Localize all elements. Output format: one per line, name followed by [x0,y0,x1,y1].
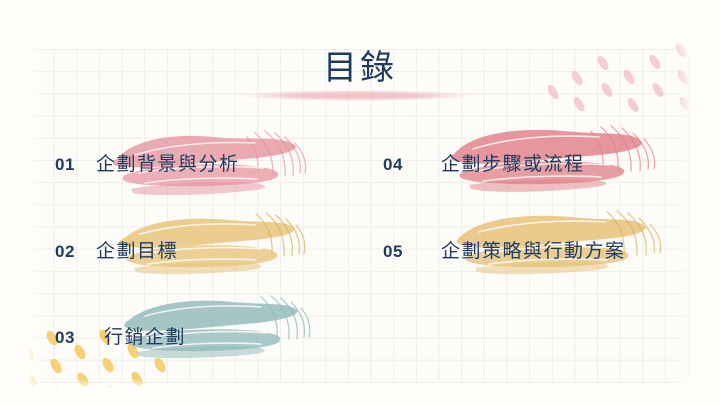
toc-label-01[interactable]: 企劃背景與分析 [96,149,240,176]
title-brush-stroke [237,90,477,101]
toc-label-03[interactable]: 行銷企劃 [104,322,186,349]
toc-item-01[interactable]: 01 企劃背景與分析 [55,135,305,205]
slide-title-area: 目錄 [0,52,720,86]
toc-number-01: 01 [55,155,75,175]
toc-number-03: 03 [55,328,75,348]
toc-item-02[interactable]: 02 企劃目標 [55,222,305,292]
toc-item-03[interactable]: 03 行銷企劃 [55,308,305,378]
toc-label-04[interactable]: 企劃步驟或流程 [441,149,585,176]
toc-number-04: 04 [383,155,403,175]
toc-label-02[interactable]: 企劃目標 [96,236,178,263]
toc-number-05: 05 [383,242,403,262]
toc-item-05[interactable]: 05 企劃策略與行動方案 [383,222,683,292]
bottom-fade [0,379,720,405]
toc-label-05[interactable]: 企劃策略與行動方案 [441,236,626,263]
toc-number-02: 02 [55,242,75,262]
presentation-slide: 目錄 [0,0,720,405]
toc-item-04[interactable]: 04 企劃步驟或流程 [383,135,683,205]
top-fade [0,0,720,52]
page-title: 目錄 [0,52,720,86]
